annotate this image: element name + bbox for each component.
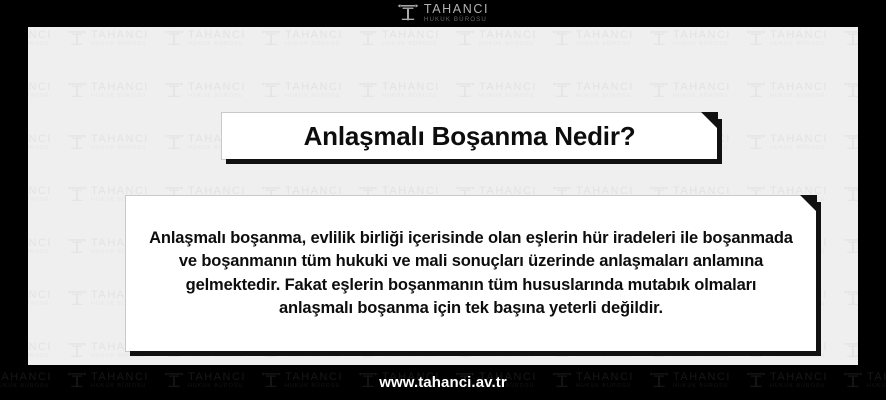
- header-bar: TAHANCI HUKUK BÜROSU: [0, 0, 886, 27]
- watermark-item: TAHANCIHUKUK BÜROSU: [455, 29, 537, 48]
- column-pillar-icon: [746, 133, 766, 152]
- watermark-item: TAHANCIHUKUK BÜROSU: [746, 81, 828, 100]
- column-pillar-icon: [67, 81, 87, 100]
- body-paragraph: Anlaşmalı boşanma, evlilik birliği içeri…: [148, 227, 794, 321]
- column-pillar-icon: [843, 29, 858, 48]
- watermark-item: TAHANCIHUKUK BÜROSU: [843, 133, 858, 152]
- column-pillar-icon: [746, 29, 766, 48]
- watermark-item: TAHANCIHUKUK BÜROSU: [67, 133, 149, 152]
- brand-logo: TAHANCI HUKUK BÜROSU: [397, 3, 489, 23]
- watermark-item: TAHANCIHUKUK BÜROSU: [28, 29, 52, 48]
- column-pillar-icon: [843, 237, 858, 256]
- watermark-item: TAHANCIHUKUK BÜROSU: [28, 81, 52, 100]
- watermark-item: TAHANCIHUKUK BÜROSU: [164, 29, 246, 48]
- column-pillar-icon: [455, 29, 475, 48]
- body-card: Anlaşmalı boşanma, evlilik birliği içeri…: [125, 195, 817, 352]
- poster-canvas: TAHANCI HUKUK BÜROSU TAHANCIHUKUK BÜROSU…: [0, 0, 886, 400]
- watermark-item: TAHANCIHUKUK BÜROSU: [746, 371, 828, 390]
- column-pillar-icon: [67, 29, 87, 48]
- column-pillar-icon: [67, 133, 87, 152]
- watermark-item: TAHANCIHUKUK BÜROSU: [28, 185, 52, 204]
- column-pillar-icon: [164, 371, 184, 390]
- title-card: Anlaşmalı Boşanma Nedir?: [221, 112, 718, 160]
- watermark-item: TAHANCIHUKUK BÜROSU: [455, 81, 537, 100]
- watermark-item: TAHANCIHUKUK BÜROSU: [28, 289, 52, 308]
- brand-logo-text: TAHANCI HUKUK BÜROSU: [424, 3, 489, 23]
- column-pillar-icon: [552, 371, 572, 390]
- column-pillar-icon: [164, 81, 184, 100]
- watermark-item: TAHANCIHUKUK BÜROSU: [843, 81, 858, 100]
- column-pillar-icon: [261, 81, 281, 100]
- watermark-item: TAHANCIHUKUK BÜROSU: [164, 81, 246, 100]
- watermark-item: TAHANCIHUKUK BÜROSU: [28, 237, 52, 256]
- column-pillar-icon: [552, 29, 572, 48]
- watermark-item: TAHANCIHUKUK BÜROSU: [649, 81, 731, 100]
- column-pillar-icon: [843, 341, 858, 360]
- column-pillar-icon: [358, 371, 378, 390]
- column-pillar-icon: [746, 371, 766, 390]
- column-pillar-icon: [164, 29, 184, 48]
- column-pillar-icon: [358, 81, 378, 100]
- watermark-item: TAHANCIHUKUK BÜROSU: [28, 341, 52, 360]
- column-pillar-icon: [552, 81, 572, 100]
- watermark-item: TAHANCIHUKUK BÜROSU: [843, 185, 858, 204]
- watermark-item: TAHANCIHUKUK BÜROSU: [28, 133, 52, 152]
- column-pillar-icon: [67, 237, 87, 256]
- watermark-item: TAHANCIHUKUK BÜROSU: [261, 371, 343, 390]
- column-pillar-icon: [649, 371, 669, 390]
- column-pillar-icon: [164, 133, 184, 152]
- watermark-item: TAHANCIHUKUK BÜROSU: [552, 81, 634, 100]
- brand-name: TAHANCI: [424, 3, 489, 16]
- column-pillar-icon: [649, 81, 669, 100]
- column-pillar-icon: [843, 371, 863, 390]
- watermark-item: TAHANCIHUKUK BÜROSU: [649, 29, 731, 48]
- column-pillar-icon: [67, 185, 87, 204]
- watermark-item: TAHANCIHUKUK BÜROSU: [358, 29, 440, 48]
- watermark-item: TAHANCIHUKUK BÜROSU: [649, 371, 731, 390]
- watermark-item: TAHANCIHUKUK BÜROSU: [358, 81, 440, 100]
- column-pillar-icon: [843, 185, 858, 204]
- watermark-item: TAHANCIHUKUK BÜROSU: [261, 81, 343, 100]
- column-pillar-icon: [843, 133, 858, 152]
- column-pillar-icon: [67, 341, 87, 360]
- watermark-item: TAHANCIHUKUK BÜROSU: [843, 29, 858, 48]
- watermark-item: TAHANCIHUKUK BÜROSU: [164, 371, 246, 390]
- watermark-item: TAHANCIHUKUK BÜROSU: [552, 371, 634, 390]
- column-pillar-icon: [397, 3, 419, 23]
- page-title: Anlaşmalı Boşanma Nedir?: [304, 121, 636, 152]
- watermark-item: TAHANCIHUKUK BÜROSU: [67, 29, 149, 48]
- column-pillar-icon: [649, 29, 669, 48]
- column-pillar-icon: [261, 29, 281, 48]
- column-pillar-icon: [455, 81, 475, 100]
- column-pillar-icon: [843, 81, 858, 100]
- watermark-item: TAHANCIHUKUK BÜROSU: [67, 371, 149, 390]
- watermark-item: TAHANCIHUKUK BÜROSU: [746, 133, 828, 152]
- watermark-item: TAHANCIHUKUK BÜROSU: [843, 341, 858, 360]
- folded-corner-icon: [701, 112, 718, 129]
- watermark-item: TAHANCIHUKUK BÜROSU: [843, 289, 858, 308]
- column-pillar-icon: [261, 371, 281, 390]
- watermark-item: TAHANCIHUKUK BÜROSU: [552, 29, 634, 48]
- watermark-item: TAHANCIHUKUK BÜROSU: [746, 29, 828, 48]
- watermark-item: TAHANCIHUKUK BÜROSU: [843, 237, 858, 256]
- footer-bar: TAHANCIHUKUK BÜROSUTAHANCIHUKUK BÜROSUTA…: [0, 365, 886, 400]
- column-pillar-icon: [843, 289, 858, 308]
- content-panel: TAHANCIHUKUK BÜROSUTAHANCIHUKUK BÜROSUTA…: [28, 27, 858, 365]
- watermark-item: TAHANCIHUKUK BÜROSU: [261, 29, 343, 48]
- brand-subtitle: HUKUK BÜROSU: [424, 17, 487, 23]
- watermark-item: TAHANCIHUKUK BÜROSU: [843, 371, 886, 390]
- watermark-item: TAHANCIHUKUK BÜROSU: [0, 371, 52, 390]
- folded-corner-icon: [800, 195, 817, 212]
- column-pillar-icon: [358, 29, 378, 48]
- column-pillar-icon: [67, 371, 87, 390]
- watermark-item: TAHANCIHUKUK BÜROSU: [67, 81, 149, 100]
- website-url[interactable]: www.tahanci.av.tr: [379, 374, 507, 391]
- column-pillar-icon: [67, 289, 87, 308]
- column-pillar-icon: [746, 81, 766, 100]
